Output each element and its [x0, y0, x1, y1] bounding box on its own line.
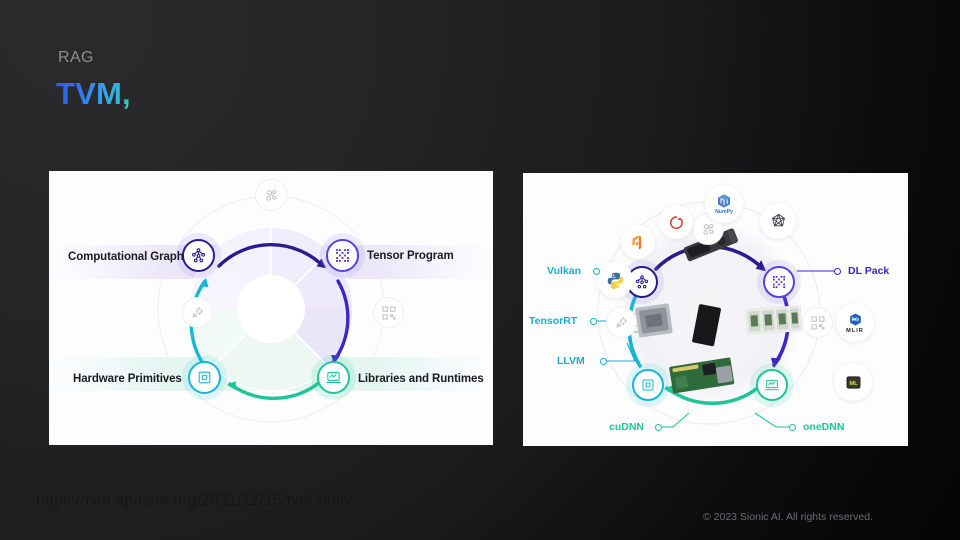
onnx-logo — [769, 212, 788, 231]
label-tensor-program: Tensor Program — [367, 250, 454, 262]
laptop-runtime-icon — [325, 369, 342, 386]
cycle-node-hardware-primitives[interactable] — [188, 361, 221, 394]
brain-circuit-icon — [700, 221, 717, 238]
slide-title: TVM, — [56, 76, 131, 112]
ml-chip-logo: ML — [843, 372, 864, 393]
gear-cog-icon — [190, 305, 206, 321]
copyright-notice: © 2023 Sionic AI. All rights reserved. — [703, 511, 873, 523]
ghost-icon-brain-circuit — [255, 179, 287, 211]
svg-text:ML: ML — [849, 380, 858, 386]
mlir-logo — [848, 312, 863, 327]
laptop-runtime-icon — [764, 377, 780, 393]
neural-network-icon — [634, 274, 650, 290]
connector-dot-llvm — [600, 358, 607, 365]
logo-chip-pytorch[interactable] — [659, 205, 693, 239]
ghost-icon-qr-code — [802, 307, 833, 338]
python-logo — [606, 271, 625, 290]
label-computational-graph: Computational Graph — [68, 251, 184, 263]
cycle-node-tensor-program[interactable] — [763, 266, 795, 298]
ghost-icon-qr-code — [373, 297, 404, 328]
ghost-icon-gear-cog — [182, 297, 213, 328]
connector-dot-vulkan — [593, 268, 600, 275]
side-label-vulkan: Vulkan — [547, 265, 581, 277]
logo-chip-mlir[interactable]: MLIR — [836, 304, 874, 342]
left-quadrant-wash — [49, 171, 493, 445]
connector-dot-cudnn — [655, 424, 662, 431]
connector-dot-dl-pack — [834, 268, 841, 275]
side-label-onednn: oneDNN — [803, 421, 844, 433]
logo-chip-numpy[interactable]: NumPy — [705, 185, 743, 223]
label-hardware-primitives: Hardware Primitives — [73, 373, 182, 385]
cycle-node-libraries-and-runtimes[interactable] — [317, 361, 350, 394]
side-label-tensorrt: TensorRT — [529, 315, 577, 327]
side-label-llvm: LLVM — [557, 355, 585, 367]
tensorflow-logo — [630, 234, 647, 251]
brain-circuit-icon — [263, 187, 280, 204]
logo-chip-ml-chip[interactable]: ML — [834, 363, 872, 401]
label-libraries-and-runtimes: Libraries and Runtimes — [358, 373, 484, 385]
neural-network-icon — [190, 247, 207, 264]
cycle-node-hardware-primitives[interactable] — [632, 369, 664, 401]
qr-code-icon — [810, 315, 826, 331]
numpy-logo — [716, 193, 732, 209]
side-label-cudnn: cuDNN — [609, 421, 644, 433]
logo-label-numpy: NumPy — [715, 209, 733, 215]
logo-chip-python[interactable] — [597, 262, 633, 298]
tensor-matrix-icon — [334, 247, 351, 264]
pytorch-logo — [668, 214, 685, 231]
connector-dot-onednn — [789, 424, 796, 431]
cycle-node-computational-graph[interactable] — [182, 239, 215, 272]
gear-cog-icon — [614, 315, 630, 331]
logo-chip-onnx[interactable] — [760, 203, 796, 239]
chip-square-icon — [196, 369, 213, 386]
connector-dot-tensorrt — [590, 318, 597, 325]
ghost-icon-gear-cog — [606, 307, 637, 338]
slide-eyebrow: RAG — [58, 49, 94, 67]
side-label-dl-pack: DL Pack — [848, 265, 889, 277]
logo-chip-tensorflow[interactable] — [621, 225, 655, 259]
cycle-node-tensor-program[interactable] — [326, 239, 359, 272]
source-url[interactable]: https://tvm.apache.org/2021/12/15/tvm-un… — [36, 492, 352, 510]
right-diagram-panel: NumPy MLIR ML — [523, 173, 908, 446]
chip-square-icon — [640, 377, 656, 393]
tensor-matrix-icon — [771, 274, 787, 290]
slide-stage: RAG TVM, — [0, 0, 960, 540]
logo-label-mlir: MLIR — [846, 328, 864, 334]
qr-code-icon — [381, 305, 397, 321]
cycle-node-libraries-and-runtimes[interactable] — [756, 369, 788, 401]
left-diagram-panel: Computational Graph Tensor Program Hardw… — [49, 171, 493, 445]
